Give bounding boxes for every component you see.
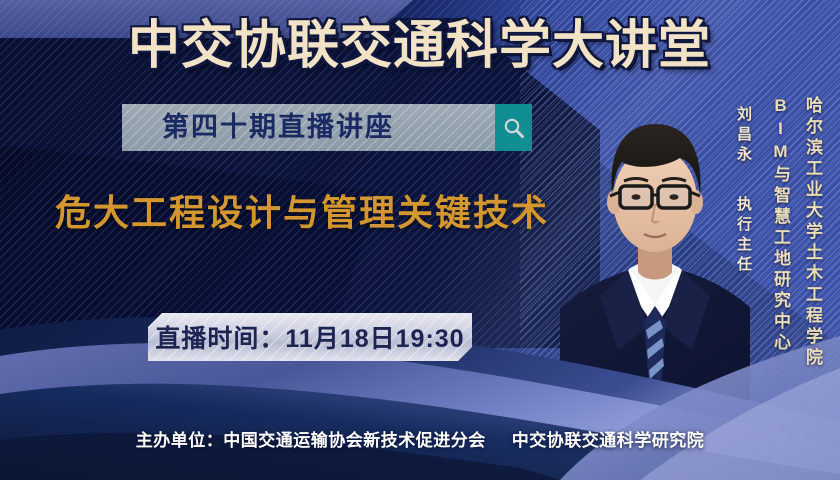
footer-organizer-secondary: 中交协联交通科学研究院 xyxy=(512,426,705,451)
live-time-banner: 直播时间：11月18日19:30 xyxy=(148,313,472,361)
speaker-affiliation-school: 哈尔滨工业大学土木工程学院 xyxy=(800,96,825,369)
footer-organizers: 主办单位：中国交通运输协会新技术促进分会 中交协联交通科学研究院 xyxy=(0,424,840,452)
footer-organizer-primary: 主办单位：中国交通运输协会新技术促进分会 xyxy=(136,426,486,451)
speaker-affiliation-center: BIM与智慧工地研究中心 xyxy=(768,96,793,354)
series-bar: 第四十期直播讲座 xyxy=(122,104,532,151)
speaker-name: 刘昌永 xyxy=(733,106,754,166)
page-title: 中交协联交通科学大讲堂 xyxy=(128,16,711,76)
series-label: 第四十期直播讲座 xyxy=(162,104,394,151)
search-icon[interactable] xyxy=(495,104,532,151)
live-lecture-poster: 中交协联交通科学大讲堂 第四十期直播讲座 危大工程设计与管理关键技术 直播时间：… xyxy=(0,0,840,480)
topic-title: 危大工程设计与管理关键技术 xyxy=(55,190,549,236)
live-time-text: 直播时间：11月18日19:30 xyxy=(148,313,472,361)
speaker-role: 执行主任 xyxy=(733,196,754,276)
